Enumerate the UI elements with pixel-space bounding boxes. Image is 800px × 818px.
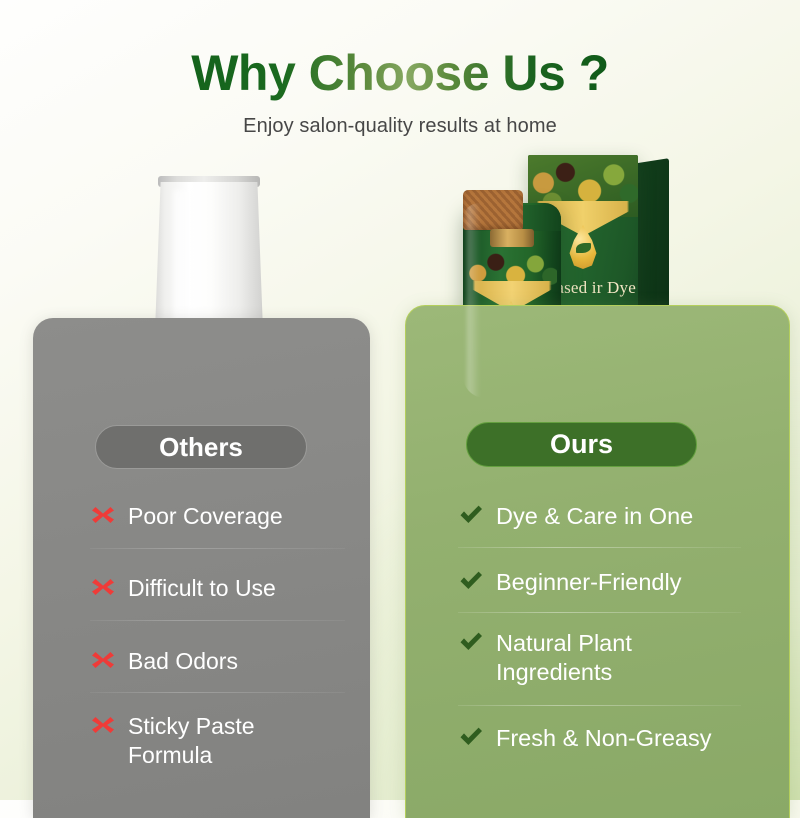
red-x-icon xyxy=(90,502,116,528)
green-check-icon xyxy=(458,629,484,655)
list-item-label: Poor Coverage xyxy=(128,502,283,531)
list-divider xyxy=(458,612,741,613)
list-item-label: Dye & Care in One xyxy=(496,502,693,531)
ours-badge: Ours xyxy=(466,422,697,467)
list-item-label: Natural Plant Ingredients xyxy=(496,629,708,687)
green-check-icon xyxy=(458,568,484,594)
list-item-label: Difficult to Use xyxy=(128,574,276,603)
bottle-highlight xyxy=(467,203,480,398)
list-item: Sticky Paste Formula xyxy=(90,712,320,770)
list-item-label: Beginner-Friendly xyxy=(496,568,681,597)
list-divider xyxy=(458,547,741,548)
red-x-icon xyxy=(90,574,116,600)
ours-badge-label: Ours xyxy=(550,429,613,460)
list-item-label: Sticky Paste Formula xyxy=(128,712,320,770)
list-item: Poor Coverage xyxy=(90,502,360,531)
green-check-icon xyxy=(458,724,484,750)
header: Why Choose Us ? Enjoy salon-quality resu… xyxy=(0,0,800,138)
list-divider xyxy=(90,620,345,621)
list-item: Bad Odors xyxy=(90,647,360,676)
list-divider xyxy=(458,705,741,706)
page-subtitle: Enjoy salon-quality results at home xyxy=(0,115,800,138)
list-divider xyxy=(90,548,345,549)
list-item: Beginner-Friendly xyxy=(458,568,788,597)
green-check-icon xyxy=(458,502,484,528)
box-oil-droplet-icon xyxy=(567,225,599,269)
others-panel: Others Poor Coverage Difficult to Use xyxy=(33,318,370,818)
page-title: Why Choose Us ? xyxy=(191,44,609,102)
list-item-label: Fresh & Non-Greasy xyxy=(496,724,711,753)
list-item-label: Bad Odors xyxy=(128,647,238,676)
others-badge: Others xyxy=(95,425,307,469)
others-badge-label: Others xyxy=(159,432,243,463)
list-item: Difficult to Use xyxy=(90,574,360,603)
list-item: Natural Plant Ingredients xyxy=(458,629,708,687)
ours-panel: Ours Dye & Care in One Beginner-Friendly xyxy=(405,305,790,818)
list-item: Dye & Care in One xyxy=(458,502,788,531)
bottle-neck-band xyxy=(490,229,534,247)
red-x-icon xyxy=(90,647,116,673)
list-item: Fresh & Non-Greasy xyxy=(458,724,793,753)
red-x-icon xyxy=(90,712,116,738)
list-divider xyxy=(90,692,345,693)
